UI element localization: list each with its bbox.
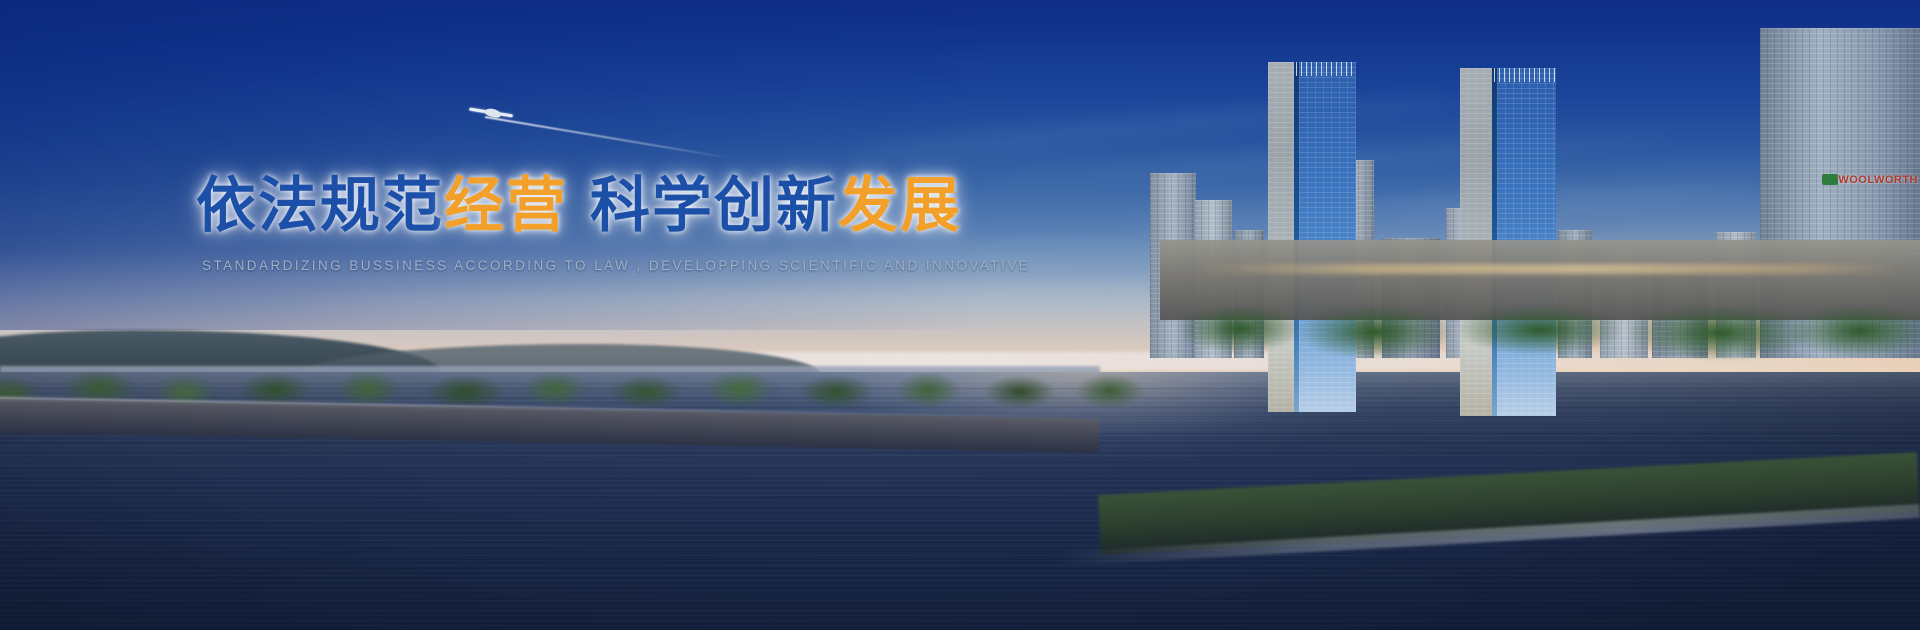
banner-text-block: 依法规范经营科学创新发展 STANDARDIZING BUSSINESS ACC… [196,176,1016,273]
hero-banner: WOOLWORTH 依法规范经营科学创新发展 STANDARDIZING BUS… [0,0,1920,630]
headline-segment-2-highlight: 经营 [444,172,568,239]
headline-segment-1: 依法规范 [196,172,444,239]
headline-segment-3: 科学创新 [590,172,838,239]
page-title: 依法规范经营科学创新发展 [196,176,1016,236]
headline-segment-4-highlight: 发展 [838,172,962,239]
banner-subtitle: STANDARDIZING BUSSINESS ACCORDING TO LAW… [202,258,1016,273]
